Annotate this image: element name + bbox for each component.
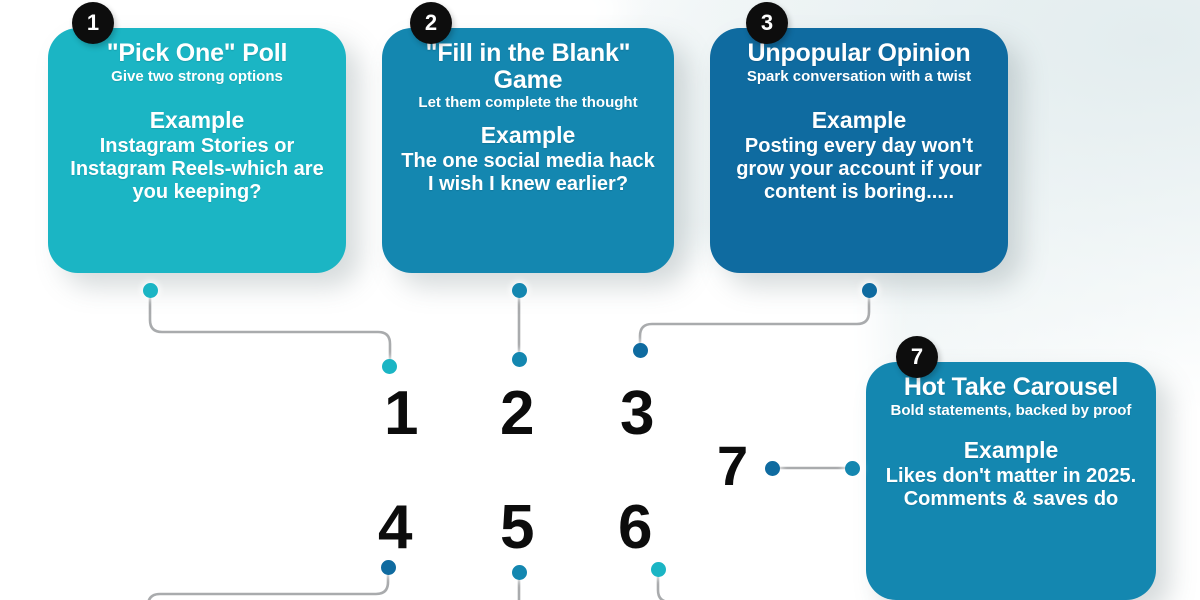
wire-card3-to-step3 <box>640 292 869 350</box>
infographic-canvas: "Pick One" Poll Give two strong options … <box>0 0 1200 600</box>
connector-dot-step2 <box>512 352 527 367</box>
card-example-text: The one social media hack I wish I knew … <box>396 150 660 196</box>
card-subtitle: Bold statements, backed by proof <box>880 403 1142 420</box>
step-numeral-6: 6 <box>618 497 651 559</box>
card-title: Hot Take Carousel <box>880 374 1142 401</box>
connector-dot-card7 <box>845 461 860 476</box>
card-example-label: Example <box>880 437 1142 464</box>
card-hot-take-carousel[interactable]: Hot Take Carousel Bold statements, backe… <box>866 362 1156 600</box>
wire-step4-downward <box>148 568 388 600</box>
card-badge-3: 3 <box>746 2 788 44</box>
connector-dot-step6 <box>651 562 666 577</box>
connector-dot-card2 <box>512 283 527 298</box>
connector-dot-step4 <box>381 560 396 575</box>
card-badge-1: 1 <box>72 2 114 44</box>
card-unpopular-opinion[interactable]: Unpopular Opinion Spark conversation wit… <box>710 28 1008 273</box>
card-subtitle: Let them complete the thought <box>396 95 660 112</box>
card-title: "Fill in the Blank" Game <box>396 40 660 93</box>
connector-dot-step3 <box>633 343 648 358</box>
card-example-label: Example <box>62 107 332 134</box>
background-lower-wash-decoration <box>0 250 880 600</box>
card-example-label: Example <box>724 107 994 134</box>
step-numeral-7: 7 <box>717 438 747 494</box>
card-title: Unpopular Opinion <box>724 40 994 67</box>
connector-dot-card1 <box>143 283 158 298</box>
card-badge-2: 2 <box>410 2 452 44</box>
step-numeral-3: 3 <box>620 383 653 445</box>
card-subtitle: Spark conversation with a twist <box>724 69 994 86</box>
card-example-label: Example <box>396 122 660 149</box>
card-example-text: Likes don't matter in 2025. Comments & s… <box>880 465 1142 511</box>
connector-dot-step7 <box>765 461 780 476</box>
connector-dot-card3 <box>862 283 877 298</box>
wire-card1-to-step1 <box>150 292 390 366</box>
card-pick-one-poll[interactable]: "Pick One" Poll Give two strong options … <box>48 28 346 273</box>
card-subtitle: Give two strong options <box>62 69 332 86</box>
card-badge-7: 7 <box>896 336 938 378</box>
step-numeral-5: 5 <box>500 497 533 559</box>
step-numeral-1: 1 <box>384 383 417 445</box>
connector-dot-step5 <box>512 565 527 580</box>
card-example-text: Instagram Stories or Instagram Reels-whi… <box>62 135 332 203</box>
connector-dot-step1 <box>382 359 397 374</box>
card-example-text: Posting every day won't grow your accoun… <box>724 135 994 203</box>
card-title: "Pick One" Poll <box>62 40 332 67</box>
step-numeral-4: 4 <box>378 497 411 559</box>
card-fill-in-the-blank-game[interactable]: "Fill in the Blank" Game Let them comple… <box>382 28 674 273</box>
step-numeral-2: 2 <box>500 383 533 445</box>
